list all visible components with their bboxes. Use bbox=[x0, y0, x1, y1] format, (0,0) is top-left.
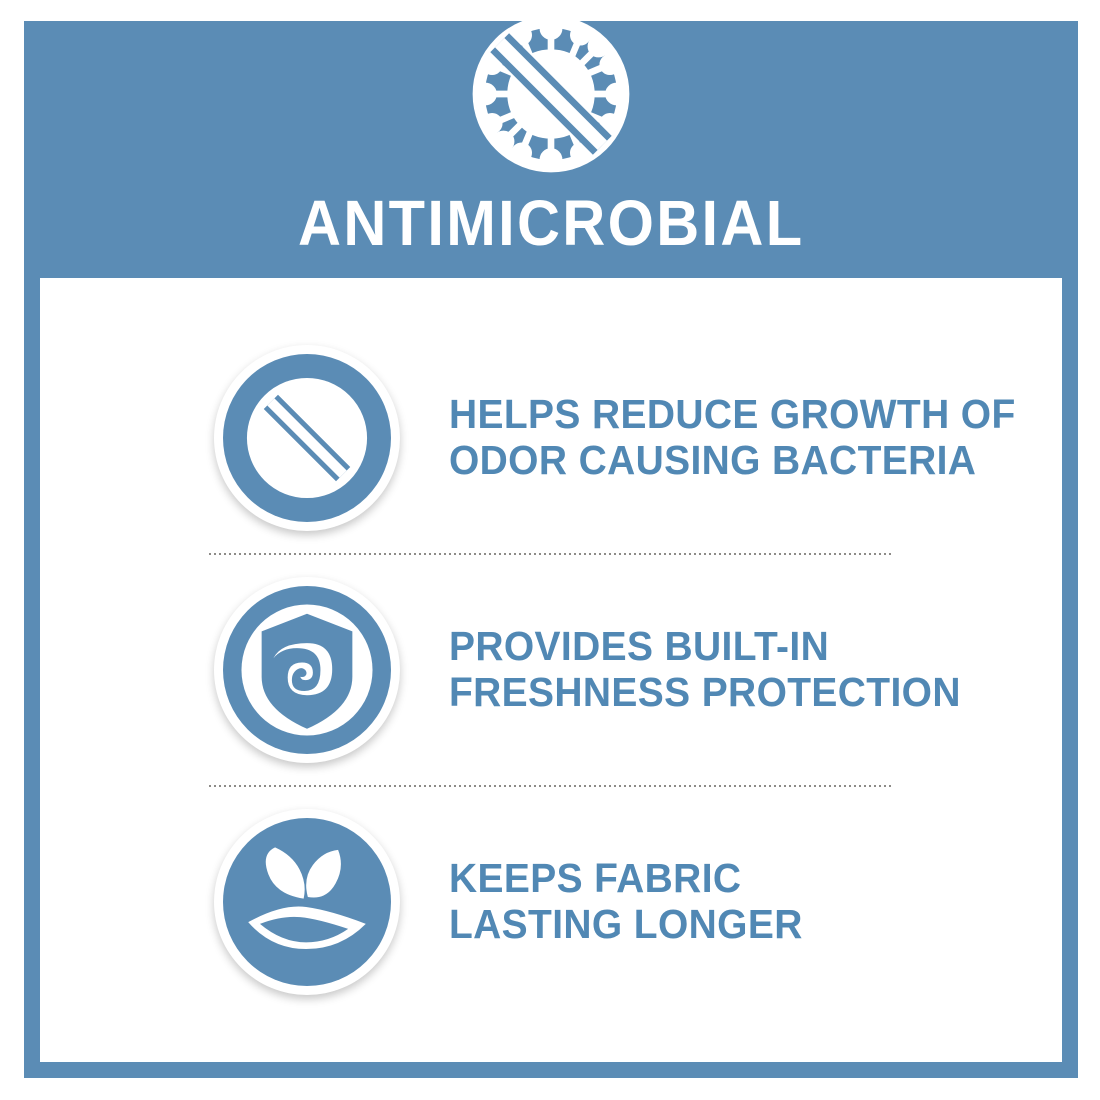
antimicrobial-infographic-card: ANTIMICROBIAL bbox=[24, 21, 1078, 1078]
features-panel: HELPS REDUCE GROWTH OF ODOR CAUSING BACT… bbox=[40, 278, 1062, 1062]
no-germs-icon bbox=[223, 354, 391, 522]
leaf-sprout-fabric-icon bbox=[223, 818, 391, 986]
feature-label-3: KEEPS FABRIC LASTING LONGER bbox=[449, 856, 803, 948]
feature-label-2: PROVIDES BUILT-IN FRESHNESS PROTECTION bbox=[449, 624, 961, 716]
feature-label-line: ODOR CAUSING BACTERIA bbox=[449, 438, 1016, 484]
no-germs-icon bbox=[456, 0, 646, 189]
list-item: KEEPS FABRIC LASTING LONGER bbox=[40, 787, 1062, 1017]
feature-icon-badge-2 bbox=[214, 577, 400, 763]
header-band: ANTIMICROBIAL bbox=[24, 21, 1078, 278]
list-item: HELPS REDUCE GROWTH OF ODOR CAUSING BACT… bbox=[40, 323, 1062, 553]
feature-label-1: HELPS REDUCE GROWTH OF ODOR CAUSING BACT… bbox=[449, 392, 1016, 484]
feature-label-line: LASTING LONGER bbox=[449, 902, 803, 948]
feature-list: HELPS REDUCE GROWTH OF ODOR CAUSING BACT… bbox=[40, 323, 1062, 1017]
feature-icon-badge-3 bbox=[214, 809, 400, 995]
feature-icon-badge-1 bbox=[214, 345, 400, 531]
shield-swirl-icon bbox=[223, 586, 391, 754]
feature-label-line: FRESHNESS PROTECTION bbox=[449, 670, 961, 716]
feature-label-line: HELPS REDUCE GROWTH OF bbox=[449, 392, 1016, 438]
page-title: ANTIMICROBIAL bbox=[298, 191, 804, 255]
feature-label-line: KEEPS FABRIC bbox=[449, 856, 803, 902]
list-item: PROVIDES BUILT-IN FRESHNESS PROTECTION bbox=[40, 555, 1062, 785]
feature-label-line: PROVIDES BUILT-IN bbox=[449, 624, 961, 670]
